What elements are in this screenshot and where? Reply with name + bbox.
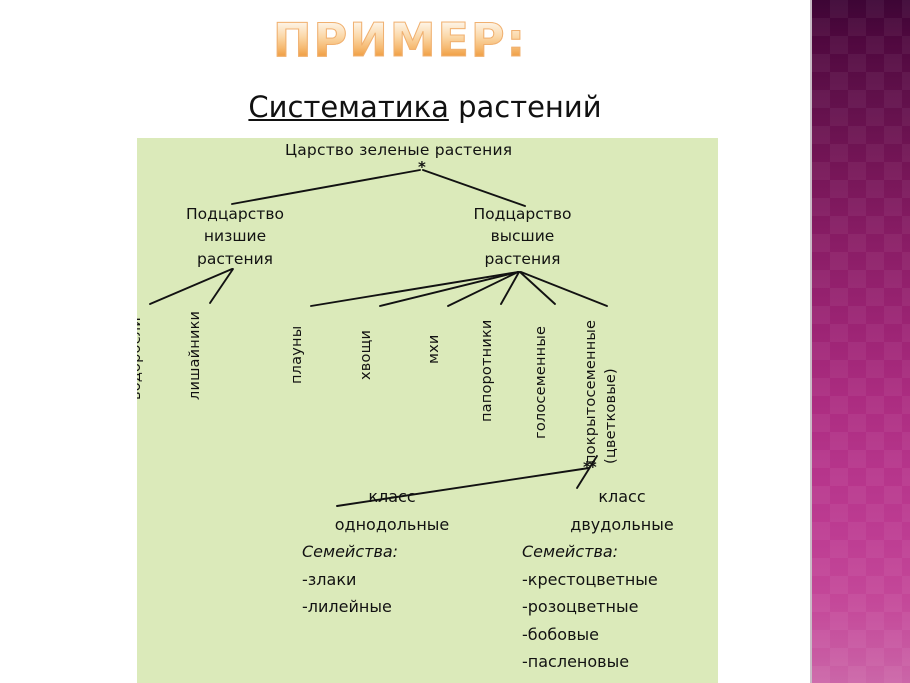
kingdom-asterisk-marker: * (418, 158, 424, 176)
leaf-lycopods: плауны (289, 326, 305, 384)
dicots-name: двудольные (522, 511, 718, 539)
subtitle: Систематика растений (130, 90, 720, 124)
taxonomy-diagram: Царство зеленые растения * Подцарство ни… (137, 138, 718, 683)
node-subkingdom-lower: Подцарство низшие растения (165, 203, 305, 270)
page-title: Пример: (0, 16, 800, 64)
dicots-families-header: Семейства: (522, 538, 718, 566)
decorative-side-panel (812, 0, 910, 683)
leaf-ferns: папоротники (479, 319, 495, 422)
leaf-angiosperms-line2: (цветковые) (603, 368, 619, 464)
subtitle-underlined-part: Систематика (248, 90, 448, 124)
dicots-family-item: -сложноцветные (522, 676, 718, 683)
leaf-horsetails: хвощи (358, 330, 374, 380)
node-subkingdom-higher: Подцарство высшие растения (455, 203, 590, 270)
leaf-mosses: мхи (426, 334, 442, 364)
subtitle-rest-part: растений (449, 90, 602, 124)
dicots-family-item: -пасленовые (522, 648, 718, 676)
panel-diamond-pattern (812, 0, 910, 683)
leaf-angiosperms-line1: покрытосеменные (583, 320, 599, 464)
dicots-family-item: -бобовые (522, 621, 718, 649)
leaf-lichens: лишайники (187, 311, 203, 400)
node-kingdom: Царство зеленые растения (285, 143, 512, 159)
monocots-families-header: Семейства: (302, 538, 482, 566)
leaf-algae: водоросли (137, 317, 144, 400)
monocots-family-item: -лилейные (302, 593, 482, 621)
dicots-rank: класс (522, 483, 718, 511)
monocots-family-item: -злаки (302, 566, 482, 594)
class-block-monocots: класс однодольные Семейства: -злаки -лил… (302, 483, 482, 621)
angiosperm-double-asterisk-marker: ** (583, 458, 595, 476)
monocots-name: однодольные (302, 511, 482, 539)
dicots-family-item: -розоцветные (522, 593, 718, 621)
class-block-dicots: класс двудольные Семейства: -крестоцветн… (522, 483, 718, 683)
monocots-rank: класс (302, 483, 482, 511)
dicots-family-item: -крестоцветные (522, 566, 718, 594)
leaf-gymnosperms: голосеменные (533, 326, 549, 439)
